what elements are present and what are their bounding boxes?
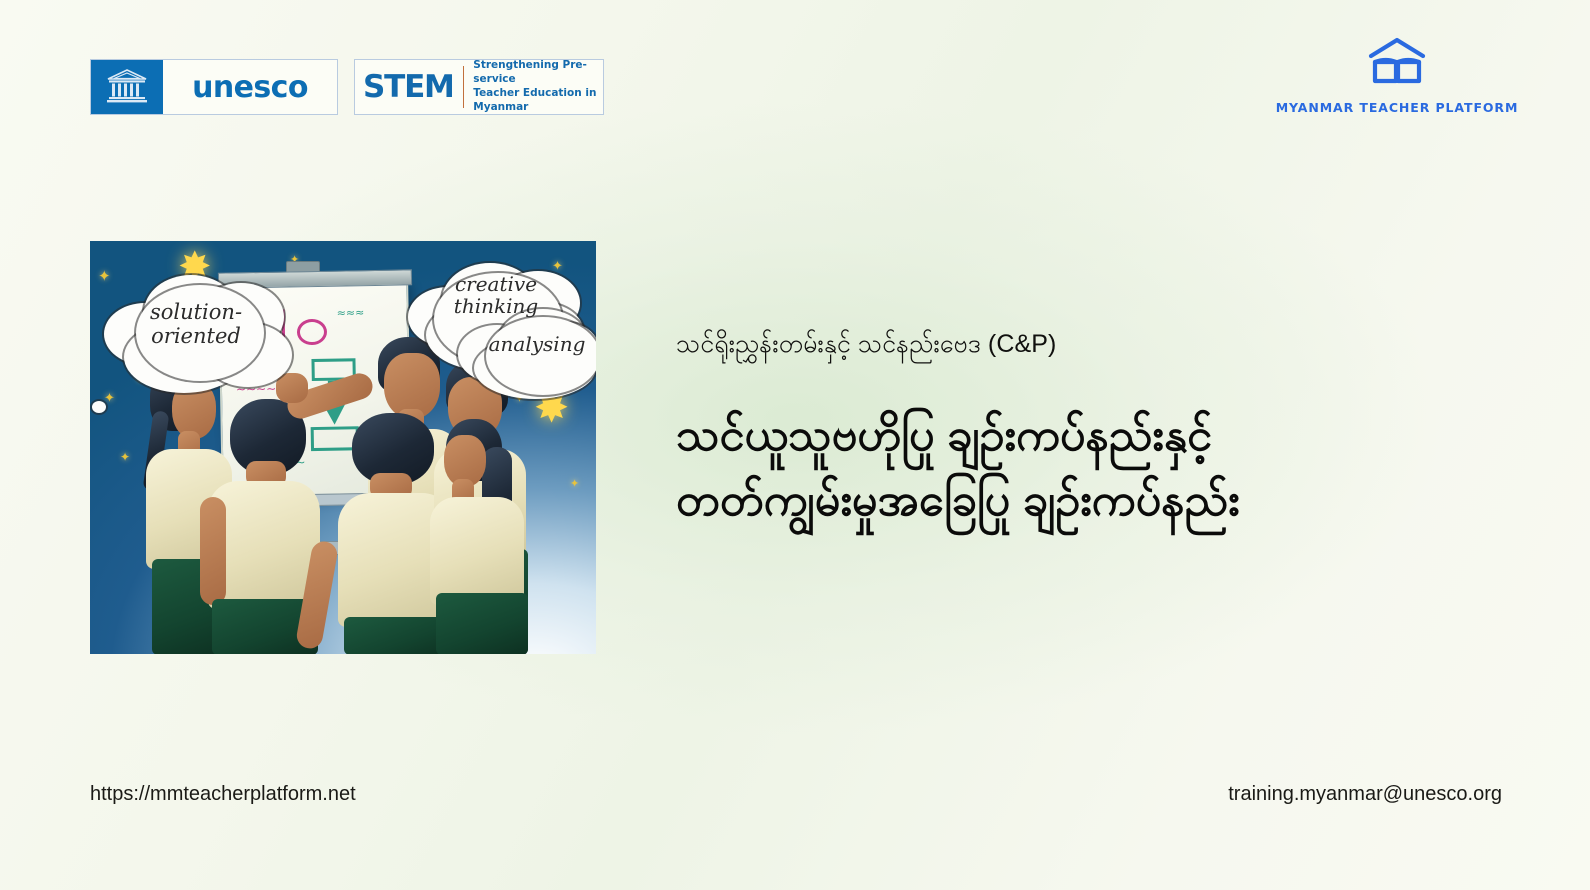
stem-tagline-line-2: Teacher Education in	[473, 87, 597, 101]
unesco-temple-emblem-icon	[91, 60, 163, 114]
open-book-roof-icon	[1366, 36, 1428, 93]
star-icon: ✦	[570, 479, 579, 490]
footer-website-link[interactable]: https://mmteacherplatform.net	[90, 783, 356, 806]
bubble-analysing-line-1: analysing	[474, 333, 596, 355]
unesco-logo: unesco	[90, 59, 338, 115]
students-around-flipchart-illustration: ✦ ✦ ✦ ✦ ✦ ✦ ✦ ✦ ✦ ✦ ✦ ✸ ✸ ≈≈ ⌒⌒ ≈≈≈ ~~~~…	[90, 241, 596, 654]
stem-logo: STEM Strengthening Pre-service Teacher E…	[354, 59, 604, 115]
page-title-line-1: သင်ယူသူဗဟိုပြု ချဉ်းကပ်နည်းနှင့်	[676, 402, 1376, 467]
star-icon: ✦	[120, 451, 130, 463]
footer-email-link[interactable]: training.myanmar@unesco.org	[1228, 783, 1502, 806]
page-title: သင်ယူသူဗဟိုပြု ချဉ်းကပ်နည်းနှင့် တတ်ကျွမ…	[676, 402, 1376, 533]
bubble-solution-line-1: solution-	[106, 301, 286, 325]
bubble-solution-line-2: oriented	[106, 325, 286, 349]
myanmar-teacher-platform-logo: MYANMAR TEACHER PLATFORM	[1272, 36, 1522, 115]
stem-divider	[463, 66, 465, 108]
stem-acronym: STEM	[363, 72, 454, 103]
star-icon: ✦	[98, 269, 111, 284]
illustration-canvas: ✦ ✦ ✦ ✦ ✦ ✦ ✦ ✦ ✦ ✦ ✦ ✸ ✸ ≈≈ ⌒⌒ ≈≈≈ ~~~~…	[90, 241, 596, 654]
stem-tagline-line-3: Myanmar	[473, 101, 597, 115]
stem-tagline-line-1: Strengthening Pre-service	[473, 59, 597, 87]
header-logo-row: unesco STEM Strengthening Pre-service Te…	[90, 59, 604, 115]
drawing-teal-scribble: ≈≈≈	[337, 306, 365, 319]
star-icon: ✦	[552, 259, 563, 272]
subject-line: သင်ရိုးညွှန်းတမ်းနှင့် သင်နည်းဗေဒ (C&P)	[676, 328, 1056, 365]
bubble-creative-line-1: creative	[420, 273, 572, 295]
star-icon: ✦	[104, 391, 115, 404]
unesco-wordmark: unesco	[163, 60, 337, 114]
stem-tagline: Strengthening Pre-service Teacher Educat…	[473, 59, 597, 114]
bubble-creative-line-2: thinking	[420, 295, 572, 317]
page-title-line-2: တတ်ကျွမ်းမှုအခြေပြု ချဉ်းကပ်နည်း	[676, 467, 1376, 532]
mtp-label: MYANMAR TEACHER PLATFORM	[1276, 100, 1519, 115]
drawing-pink-circle	[297, 319, 327, 346]
